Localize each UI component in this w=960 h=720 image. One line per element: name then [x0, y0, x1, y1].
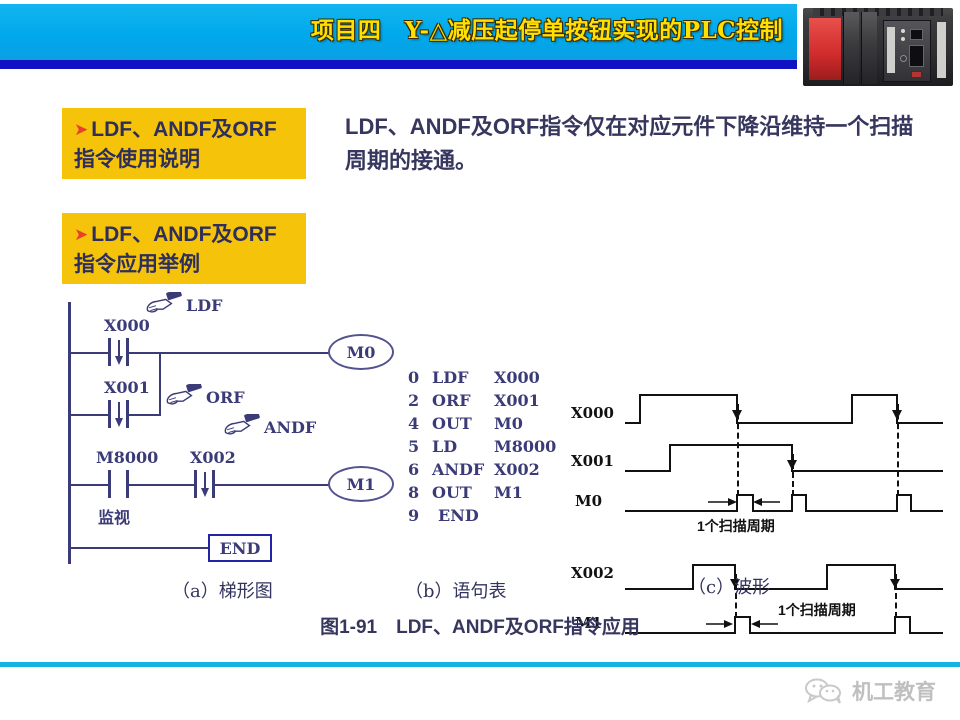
monitor-note: 监视	[98, 504, 130, 528]
contact-label-x002: X002	[190, 448, 236, 467]
plc-dial	[900, 55, 907, 62]
footer-divider	[0, 662, 960, 667]
x002-seg-low-2	[896, 588, 943, 590]
step-cell: 4	[408, 412, 432, 435]
slide-root: 项目四 Y-△减压起停单按钮实现的PLC控制 ➤LDF、ANDF及ORF指令使用…	[0, 0, 960, 720]
plc-device-photo	[797, 2, 957, 90]
pointer-hand-icon-orf	[162, 384, 204, 410]
instr-cell: LD	[432, 435, 494, 458]
plc-vent-fins	[813, 8, 943, 16]
watermark: 机工教育	[804, 676, 936, 706]
pointer-label-ldf: LDF	[186, 296, 222, 315]
pointer-label-orf: ORF	[206, 388, 245, 407]
m0-seg-low-3	[912, 510, 943, 512]
m0-seg-low-1	[754, 510, 791, 512]
pointer-hand-icon-ldf	[142, 292, 184, 318]
x000-seg-low-0	[625, 422, 639, 424]
x001-rise-0	[669, 444, 671, 472]
operand-cell: X001	[494, 389, 564, 412]
contact-label-x001: X001	[104, 378, 150, 397]
usage-paragraph: LDF、ANDF及ORF指令仅在对应元件下降沿维持一个扫描周期的接通。	[345, 110, 925, 178]
instr-cell: ORF	[432, 389, 494, 412]
operand-cell: M0	[494, 412, 564, 435]
step-cell: 5	[408, 435, 432, 458]
x000-seg-high-1	[851, 394, 898, 396]
x001-seg-high-0	[669, 444, 793, 446]
caption-c: （c）波形	[688, 573, 770, 599]
table-row: 6 ANDF X002	[408, 458, 564, 481]
step-cell: 2	[408, 389, 432, 412]
statement-list-table: 0 LDF X000 2 ORF X001 4 OUT M0 5 LD	[408, 366, 564, 527]
m0-seg-low-0	[625, 510, 736, 512]
operand-cell: X002	[494, 458, 564, 481]
plc-cpu-panel	[883, 20, 931, 82]
x000-seg-low-1	[738, 422, 851, 424]
waveform-label-m0: M0	[575, 492, 602, 510]
end-rung-wire	[70, 547, 210, 549]
x002-seg-low-0	[625, 588, 692, 590]
operand-cell: M8000	[494, 435, 564, 458]
caption-b: （b）语句表	[405, 577, 507, 603]
instr-cell: OUT	[432, 412, 494, 435]
waveform-label-x000: X000	[571, 404, 614, 422]
plc-status-block	[911, 71, 922, 78]
instr-cell: LDF	[432, 366, 494, 389]
coil-m0: M0	[328, 334, 394, 370]
operand-cell	[494, 504, 564, 527]
plc-slot-right	[937, 22, 946, 78]
plc-led-1	[901, 29, 905, 33]
rung1-branch-wire-left	[70, 414, 108, 416]
waveform-label-x002: X002	[571, 564, 614, 582]
table-row: 8 OUT M1	[408, 481, 564, 504]
x002-seg-high-0	[692, 564, 736, 566]
m0-pulse2-rise	[896, 494, 898, 512]
bullet-arrow-icon: ➤	[74, 120, 91, 139]
plc-module-2	[861, 12, 877, 84]
x000-falling-edge-arrow-icon	[113, 338, 125, 366]
contact-label-m8000: M8000	[96, 448, 158, 467]
callout-text-example: LDF、ANDF及ORF指令应用举例	[74, 223, 277, 276]
plc-slot-left	[887, 27, 895, 73]
pointer-label-andf: ANDF	[264, 418, 316, 437]
ladder-diagram: X000 X001 M0 M8000 X002 监视 M1	[60, 292, 400, 572]
edge-guide-x001-fall	[792, 454, 794, 496]
plc-red-module	[809, 18, 841, 80]
rung2-wire-mid	[129, 484, 194, 486]
edge-guide-x000-fall	[737, 404, 739, 496]
figure-caption: 图1-91 LDF、ANDF及ORF指令应用	[0, 612, 960, 639]
rung1-branch-wire-right	[129, 414, 161, 416]
m0-seg-low-2	[807, 510, 896, 512]
x000-contact-bar-left	[108, 338, 111, 366]
instr-cell: OUT	[432, 481, 494, 504]
caption-a: （a）梯形图	[172, 577, 273, 603]
instr-cell: ANDF	[432, 458, 494, 481]
operand-cell: X000	[494, 366, 564, 389]
page-title: 项目四 Y-△减压起停单按钮实现的PLC控制	[0, 0, 797, 56]
callout-box-usage: ➤LDF、ANDF及ORF指令使用说明	[62, 108, 306, 179]
callout-box-example: ➤LDF、ANDF及ORF指令应用举例	[62, 213, 306, 284]
wechat-bubble-icon	[804, 678, 844, 704]
x000-rise-1	[851, 394, 853, 424]
plc-serial-port	[909, 45, 924, 67]
x000-seg-low-2	[898, 422, 943, 424]
power-rail	[68, 302, 71, 564]
x001-seg-low-0	[625, 470, 669, 472]
instr-cell: END	[432, 504, 494, 527]
pointer-hand-icon-andf	[220, 414, 262, 440]
x001-falling-edge-arrow-icon	[113, 400, 125, 428]
operand-cell: M1	[494, 481, 564, 504]
table-row: 4 OUT M0	[408, 412, 564, 435]
x002-rise-1	[826, 564, 828, 590]
waveform-diagram: X000 X001 M0	[565, 312, 955, 560]
step-cell: 9	[408, 504, 432, 527]
bullet-arrow-icon: ➤	[74, 225, 91, 244]
table-row: 9 END	[408, 504, 564, 527]
plc-ethernet-port	[910, 29, 923, 40]
x002-contact-bar-left	[194, 470, 197, 498]
x002-falling-edge-arrow-icon	[199, 470, 211, 498]
x002-seg-high-1	[826, 564, 896, 566]
x000-rise-0	[639, 394, 641, 424]
scan-cycle-note-1: 1个扫描周期	[697, 516, 775, 536]
contact-label-x000: X000	[104, 316, 150, 335]
watermark-text: 机工教育	[852, 676, 936, 706]
plc-module-1	[843, 12, 859, 84]
x001-seg-low-1	[793, 470, 943, 472]
edge-guide-x000-fall-2	[897, 404, 899, 496]
table-row: 5 LD M8000	[408, 435, 564, 458]
statement-list: 0 LDF X000 2 ORF X001 4 OUT M0 5 LD	[408, 366, 564, 527]
plc-led-2	[901, 37, 905, 41]
coil-m1: M1	[328, 466, 394, 502]
m8000-contact-bar-left	[108, 470, 111, 498]
rung1-branch-riser	[159, 352, 161, 416]
x000-seg-high-0	[639, 394, 738, 396]
header-underline	[0, 60, 797, 69]
end-instruction-box: END	[208, 534, 272, 562]
step-cell: 8	[408, 481, 432, 504]
callout-text-usage: LDF、ANDF及ORF指令使用说明	[74, 118, 277, 171]
scan-cycle-dimension-arrows-1	[708, 495, 780, 509]
rung2-wire-left	[70, 484, 108, 486]
waveform-label-x001: X001	[571, 452, 614, 470]
step-cell: 6	[408, 458, 432, 481]
x001-contact-bar-left	[108, 400, 111, 428]
rung1-wire-left	[70, 352, 108, 354]
rung2-wire-right	[215, 484, 329, 486]
table-row: 2 ORF X001	[408, 389, 564, 412]
m0-pulse1-rise	[791, 494, 793, 512]
step-cell: 0	[408, 366, 432, 389]
table-row: 0 LDF X000	[408, 366, 564, 389]
